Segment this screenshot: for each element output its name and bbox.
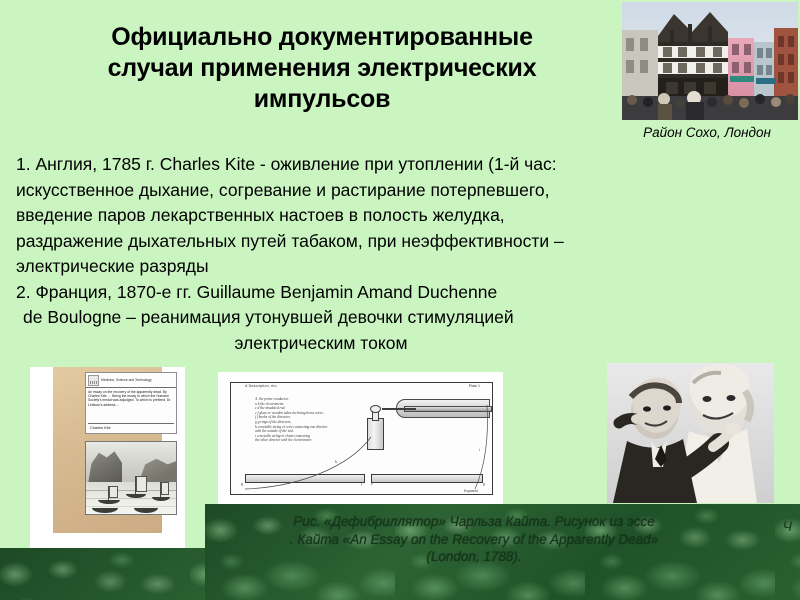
diagram-top-label-left: A Description, etc.: [245, 384, 278, 388]
body-line-8: электрическим током: [16, 331, 786, 357]
engraving-sail: [109, 486, 118, 498]
diagram-director-plate-left: [245, 474, 365, 483]
slide-body-text: 1. Англия, 1785 г. Charles Kite - оживле…: [16, 152, 786, 356]
diagram-top-label-right: Plate 1: [469, 384, 480, 388]
diagram-director-plate-right: [371, 474, 483, 483]
slide-number: Ч: [783, 518, 792, 534]
slide-title-line-2: случаи применения электрических: [44, 53, 600, 84]
soho-london-photo-graphic: [622, 2, 798, 120]
kite-defibrillator-diagram-image: A Description, etc. Plate 1 Engraved A. …: [218, 372, 503, 504]
body-line-3: введение паров лекарственных настоев в п…: [16, 203, 786, 229]
slide-title-line-1: Официально документированные: [44, 22, 600, 53]
svg-text:h: h: [335, 459, 337, 464]
slide-title-line-3: импульсов: [44, 84, 600, 115]
diagram-legend: A. the prime conductor. a b the electrom…: [255, 397, 367, 443]
figure-caption-line-1: Рис. «Дефибриллятор» Чарльза Кайта. Рису…: [214, 513, 734, 531]
engraving-wave: [86, 506, 176, 507]
engraving-sail: [161, 482, 169, 495]
diagram-frame: A Description, etc. Plate 1 Engraved A. …: [230, 382, 493, 495]
svg-text:g: g: [241, 481, 243, 486]
body-line-4: раздражение дыхательных путей табаком, п…: [16, 229, 786, 255]
book-cover-publisher-header: Medicine, Science and Technology: [86, 373, 176, 388]
book-cover-author: Charles Kite: [90, 426, 111, 430]
publisher-logo-icon: [88, 375, 99, 386]
book-cover-engraving: [85, 441, 177, 515]
diagram-leyden-jar: [367, 418, 384, 450]
body-line-1: 1. Англия, 1785 г. Charles Kite - оживле…: [16, 152, 786, 178]
presentation-slide: Официально документированные случаи прим…: [0, 0, 800, 600]
figure-caption-line-3: (London, 1788).: [214, 548, 734, 566]
figure-caption-line-2: . Кайта «An Essay on the Recovery of the…: [214, 531, 734, 549]
book-cover-title-text: An essay on the recovery of the apparent…: [88, 390, 174, 424]
book-cover-page: Medicine, Science and Technology An essa…: [53, 367, 162, 533]
duchenne-experiment-photo: [607, 363, 774, 503]
charles-kite-book-cover-image: Medicine, Science and Technology An essa…: [30, 367, 185, 548]
body-line-7: de Boulogne – реанимация утонувшей девоч…: [16, 305, 786, 331]
soho-photo-caption: Район Сохо, Лондон: [612, 125, 800, 140]
diagram-conductor-bar: [404, 406, 492, 412]
body-line-5: электрические разряды: [16, 254, 786, 280]
diagram-jar-knob: [370, 405, 381, 413]
body-line-2: искусственное дыхание, согревание и раст…: [16, 178, 786, 204]
slide-title: Официально документированные случаи прим…: [44, 22, 600, 115]
duchenne-photo-graphic: [607, 363, 774, 503]
diagram-insulated-rod: [382, 408, 416, 410]
svg-text:i: i: [479, 447, 480, 452]
figure-caption: Рис. «Дефибриллятор» Чарльза Кайта. Рису…: [214, 513, 734, 566]
body-line-6: 2. Франция, 1870-е гг. Guillaume Benjami…: [16, 280, 786, 306]
svg-text:g: g: [483, 481, 485, 486]
diagram-bottom-label: Engraved: [464, 489, 478, 493]
soho-london-photo: [622, 2, 798, 120]
legend-item: the other director with the electrometer…: [255, 438, 367, 443]
book-cover-publisher-text: Medicine, Science and Technology: [101, 378, 152, 382]
book-cover-title-block: Medicine, Science and Technology An essa…: [85, 372, 177, 434]
engraving-sail: [136, 476, 147, 492]
